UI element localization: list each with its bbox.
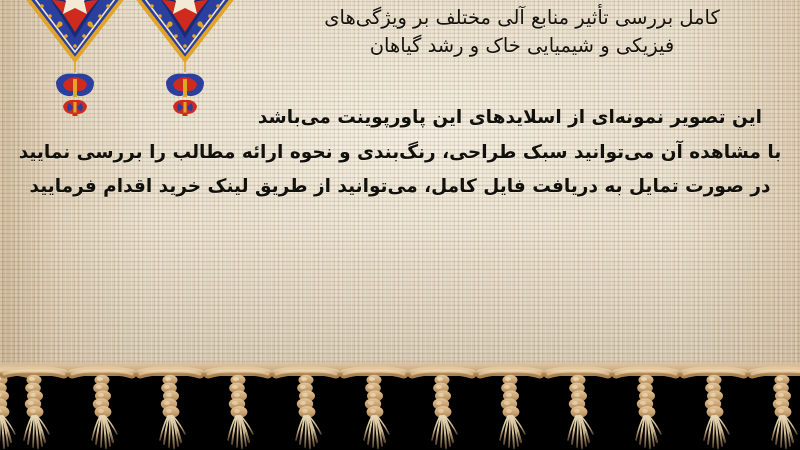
slide-title-line-2: فیزیکی و شیمیایی خاک و رشد گیاهان (262, 32, 782, 60)
fringe-black-backdrop (0, 368, 800, 450)
slide-body-line-2: با مشاهده آن می‌توانید سبک طراحی، رنگ‌بن… (0, 143, 800, 162)
slide-title: کامل بررسی تأثیر منابع آلی مختلف بر ویژگ… (262, 4, 782, 59)
slide-title-line-1: کامل بررسی تأثیر منابع آلی مختلف بر ویژگ… (262, 4, 782, 32)
slide-body-line-3: در صورت تمایل به دریافت فایل کامل، می‌تو… (0, 177, 800, 196)
slide-body-line-1: این تصویر نمونه‌ای از اسلایدهای این پاور… (0, 108, 800, 127)
slide-canvas: کامل بررسی تأثیر منابع آلی مختلف بر ویژگ… (0, 0, 800, 450)
slide-body: این تصویر نمونه‌ای از اسلایدهای این پاور… (0, 108, 800, 196)
